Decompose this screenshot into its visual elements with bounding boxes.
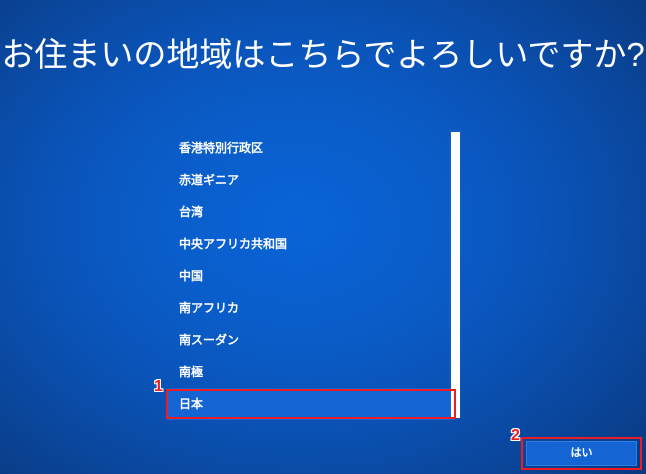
annotation-number-2: 2 [511, 428, 520, 444]
list-item-label: 南極 [179, 365, 203, 379]
list-item-label: 南アフリカ [179, 301, 239, 315]
region-list[interactable]: 香港特別行政区 赤道ギニア 台湾 中央アフリカ共和国 中国 南アフリカ 南スーダ… [167, 132, 455, 419]
list-item[interactable]: 南スーダン [167, 324, 455, 356]
list-item[interactable]: 台湾 [167, 196, 455, 228]
annotation-number-1: 1 [154, 379, 163, 395]
list-item-label: 香港特別行政区 [179, 141, 263, 155]
list-item-label: 台湾 [179, 205, 203, 219]
yes-button[interactable]: はい [526, 441, 637, 466]
list-item[interactable]: 赤道ギニア [167, 164, 455, 196]
list-item-selected[interactable]: 日本 [167, 388, 455, 420]
list-item-label: 赤道ギニア [179, 173, 239, 187]
scrollbar-thumb[interactable] [451, 132, 460, 418]
oobe-region-screen: お住まいの地域はこちらでよろしいですか? 香港特別行政区 赤道ギニア 台湾 中央… [0, 0, 646, 474]
list-item[interactable]: 南極 [167, 356, 455, 388]
list-item[interactable]: 香港特別行政区 [167, 132, 455, 164]
list-item-label: 南スーダン [179, 333, 239, 347]
list-item-label: 中国 [179, 269, 203, 283]
list-item-label: 日本 [179, 397, 203, 411]
list-item[interactable]: 中国 [167, 260, 455, 292]
list-item[interactable]: 南アフリカ [167, 292, 455, 324]
list-item[interactable]: 中央アフリカ共和国 [167, 228, 455, 260]
list-item-label: 中央アフリカ共和国 [179, 237, 287, 251]
page-title: お住まいの地域はこちらでよろしいですか? [0, 34, 646, 76]
